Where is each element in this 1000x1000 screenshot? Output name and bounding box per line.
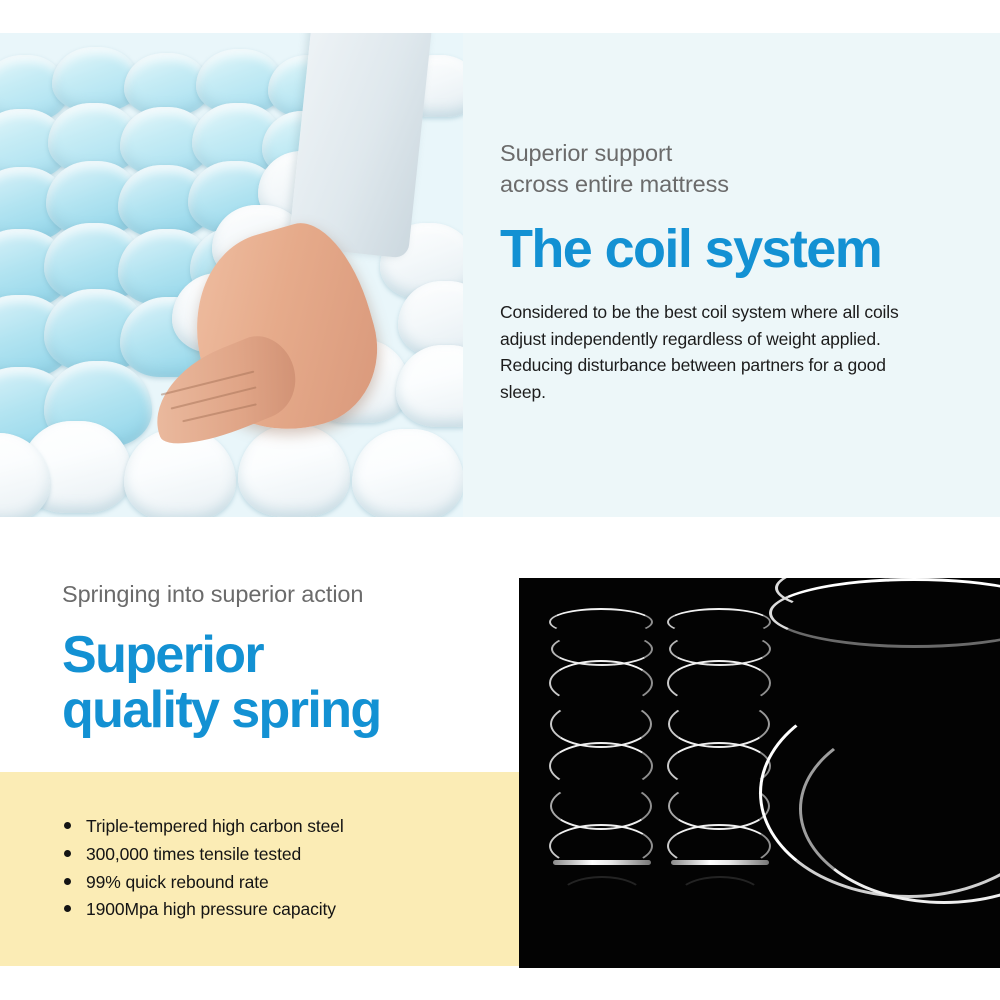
spec-text: 1900Mpa high pressure capacity <box>86 899 336 919</box>
coil-system-description: Considered to be the best coil system wh… <box>500 299 930 405</box>
coil-eyebrow: Superior support across entire mattress <box>500 138 930 199</box>
coil-eyebrow-line2: across entire mattress <box>500 169 930 200</box>
spec-text: 300,000 times tensile tested <box>86 844 301 864</box>
coil-left <box>549 608 659 908</box>
mattress-photo <box>0 33 463 517</box>
list-item: 1900Mpa high pressure capacity <box>62 896 492 924</box>
list-item: 300,000 times tensile tested <box>62 841 492 869</box>
coil-system-copy: Superior support across entire mattress … <box>500 138 930 406</box>
coil-system-section: Superior support across entire mattress … <box>0 33 1000 517</box>
spring-spec-list: Triple-tempered high carbon steel 300,00… <box>62 813 492 924</box>
list-item: Triple-tempered high carbon steel <box>62 813 492 841</box>
spec-text: 99% quick rebound rate <box>86 872 269 892</box>
quality-spring-heading-line2: quality spring <box>62 681 381 739</box>
bullet-icon <box>64 905 71 912</box>
bullet-icon <box>64 878 71 885</box>
quality-spring-heading: Superior quality spring <box>62 628 502 739</box>
coil-middle <box>667 608 777 908</box>
spec-text: Triple-tempered high carbon steel <box>86 816 344 836</box>
quality-spring-heading-line1: Superior <box>62 626 263 684</box>
quality-spring-section: Springing into superior action Superior … <box>0 517 1000 1000</box>
bullet-icon <box>64 850 71 857</box>
quality-spring-copy: Springing into superior action Superior … <box>62 579 502 739</box>
bullet-icon <box>64 822 71 829</box>
spring-eyebrow: Springing into superior action <box>62 579 502 610</box>
list-item: 99% quick rebound rate <box>62 869 492 897</box>
coil-system-heading: The coil system <box>500 221 930 277</box>
spring-photo <box>519 578 1000 968</box>
coil-foreground-large <box>769 578 1000 958</box>
coil-eyebrow-line1: Superior support <box>500 138 930 169</box>
